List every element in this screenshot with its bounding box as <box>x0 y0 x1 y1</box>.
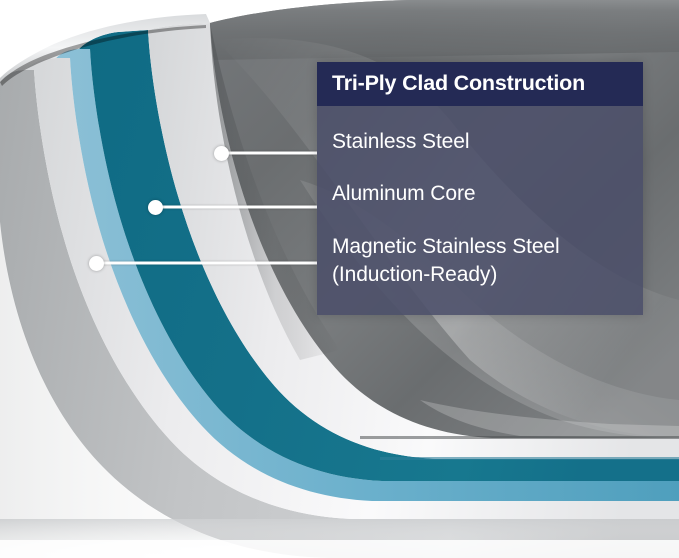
panel-header: Tri-Ply Clad Construction <box>317 62 643 106</box>
layer-label-subtext: (Induction-Ready) <box>332 261 628 289</box>
product-infographic: Tri-Ply Clad Construction Stainless Stee… <box>0 0 679 558</box>
layer-label-magnetic-stainless-steel: Magnetic Stainless Steel (Induction-Read… <box>332 233 628 288</box>
bottom-band-dark <box>360 436 679 439</box>
panel-title: Tri-Ply Clad Construction <box>332 71 628 96</box>
bottom-white-fade <box>0 540 679 558</box>
layer-label-aluminum-core: Aluminum Core <box>332 180 628 208</box>
layer-label-text: Magnetic Stainless Steel <box>332 235 560 258</box>
layer-label-text: Aluminum Core <box>332 182 475 205</box>
bottom-band-teal-dark <box>380 457 679 460</box>
panel-body: Stainless Steel Aluminum Core Magnetic S… <box>317 106 643 315</box>
layer-label-stainless-steel: Stainless Steel <box>332 128 628 156</box>
layer-label-text: Stainless Steel <box>332 130 469 153</box>
construction-info-panel: Tri-Ply Clad Construction Stainless Stee… <box>317 62 643 315</box>
